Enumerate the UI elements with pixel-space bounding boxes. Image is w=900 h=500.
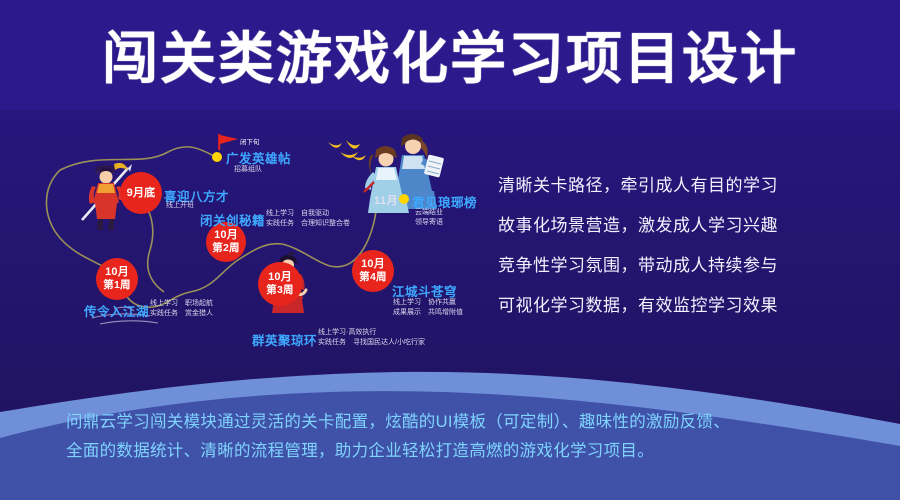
milestone-sub: 线上学习 自我驱动 实践任务 合理知识整合卷 [266, 209, 350, 228]
milestone-sub-line2: 成果展示 共鸣增附值 [393, 308, 463, 318]
milestone-badge-line1: 10月 [105, 266, 129, 279]
milestone-sub-line1: 线上学习 职场起航 [150, 299, 213, 309]
milestone-sub-line1: 云端结业 [415, 208, 443, 218]
milestone-dot [399, 194, 409, 204]
milestone-badge: 9月底 [120, 172, 162, 214]
milestone-badge: 10月 第3周 [258, 262, 302, 306]
bottom-banner-line2: 全面的数据统计、清晰的流程管理，助力企业轻松打造高燃的游戏化学习项目。 [66, 437, 866, 466]
milestone-title: 闭关创秘籍 [200, 210, 265, 229]
bottom-banner-line1: 问鼎云学习闯关模块通过灵活的关卡配置，炫酷的UI模板（可定制）、趣味性的激励反馈… [66, 408, 866, 437]
bottom-banner: 问鼎云学习闯关模块通过灵活的关卡配置，炫酷的UI模板（可定制）、趣味性的激励反馈… [66, 408, 866, 466]
milestone-dot [212, 152, 222, 162]
benefits-list: 清晰关卡路径，牵引成人有目的学习 故事化场景营造，激发成人学习兴趣 竞争性学习氛… [498, 166, 828, 326]
milestone-sub-line2: 实践任务 合理知识整合卷 [266, 219, 350, 229]
milestone-sub: 云端结业 领导寄语 [415, 208, 443, 227]
poster-canvas: 闯关类游戏化学习项目设计 [0, 0, 900, 500]
flag-label: 闭下旬 [240, 136, 260, 146]
milestone-badge-line2: 第1周 [103, 279, 130, 292]
milestone-badge-line2: 第2周 [212, 242, 239, 255]
milestone-sub: 招募组队 [234, 165, 262, 175]
benefit-item: 清晰关卡路径，牵引成人有目的学习 [498, 166, 828, 206]
milestone-sub-line1: 招募组队 [234, 165, 262, 175]
milestone-badge-line1: 9月底 [127, 187, 156, 200]
milestone-sub-line1: 线上学习 自我驱动 [266, 209, 350, 219]
milestone-badge-line1: 10月 [361, 258, 385, 271]
milestone-badge-line1: 10月 [268, 271, 292, 284]
milestone-sub-line2: 实践任务 赏金猎人 [150, 309, 213, 319]
milestone-sub-line1: 线上学习 协作共赢 [393, 298, 463, 308]
milestone-title: 群英聚琼环 [252, 330, 317, 349]
milestone-sub: 线上学习·高效执行 实践任务 寻找国民达人/小吃行家 [318, 328, 425, 347]
milestone-sub-line1: 线上学习·高效执行 [318, 328, 425, 338]
milestone-month-label: 11月 [374, 192, 398, 208]
milestone-title: 传令入江湖 [84, 301, 149, 320]
milestone-sub-line2: 实践任务 寻找国民达人/小吃行家 [318, 338, 425, 348]
milestone-sub-line1: 线上开班 [166, 201, 194, 211]
milestone-badge: 10月 第1周 [96, 258, 138, 300]
birds-icon [326, 138, 368, 177]
milestone-badge: 10月 第4周 [352, 250, 394, 292]
benefit-item: 可视化学习数据，有效监控学习效果 [498, 286, 828, 326]
page-title: 闯关类游戏化学习项目设计 [0, 28, 900, 90]
milestone-sub: 线上开班 [166, 201, 194, 211]
milestone-sub: 线上学习 职场起航 实践任务 赏金猎人 [150, 299, 213, 318]
milestone-badge-line2: 第4周 [359, 271, 386, 284]
milestone-badge-line2: 第3周 [266, 284, 293, 297]
milestone-sub: 线上学习 协作共赢 成果展示 共鸣增附值 [393, 298, 463, 317]
benefit-item: 竞争性学习氛围，带动成人持续参与 [498, 246, 828, 286]
benefit-item: 故事化场景营造，激发成人学习兴趣 [498, 206, 828, 246]
milestone-badge-line1: 10月 [214, 229, 238, 242]
milestone-sub-line2: 领导寄语 [415, 218, 443, 228]
